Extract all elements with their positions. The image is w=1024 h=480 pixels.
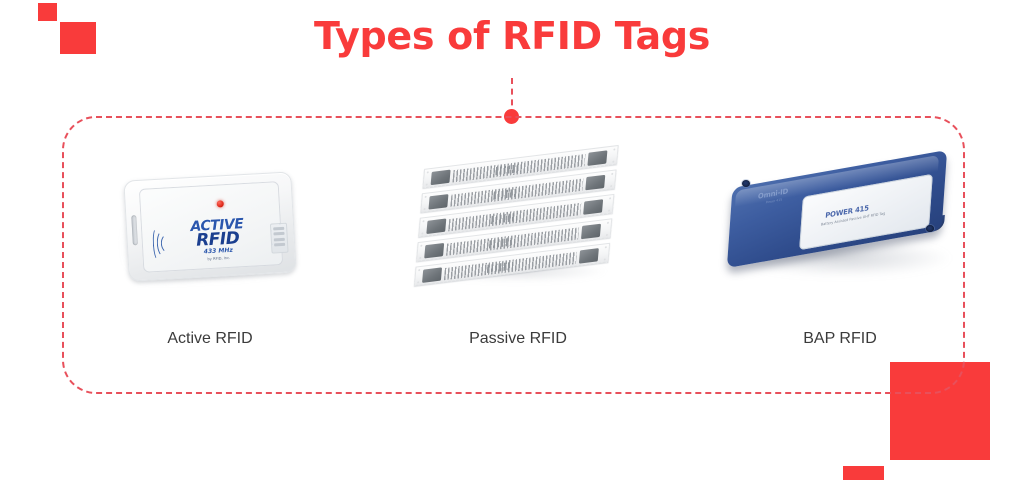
active-tag-vent-grill xyxy=(270,223,289,254)
tag-column-passive: Passive RFID xyxy=(368,150,668,370)
passive-rfid-image xyxy=(368,150,668,310)
tag-label-passive: Passive RFID xyxy=(368,330,668,348)
active-tag-face-panel: ACTIVE RFID 433 MHz by RFID, Inc. xyxy=(139,181,283,273)
inlay-chip-pad xyxy=(422,267,442,283)
tag-column-bap: Omni-ID Power 415 POWER 415 Battery Assi… xyxy=(690,150,990,370)
bap-rfid-image: Omni-ID Power 415 POWER 415 Battery Assi… xyxy=(690,150,990,310)
inlay-chip-pad xyxy=(426,218,446,234)
passive-inlay-sheet xyxy=(413,145,618,293)
tag-column-active: ACTIVE RFID 433 MHz by RFID, Inc. Acti xyxy=(60,150,360,370)
tag-label-active: Active RFID xyxy=(60,330,360,348)
bap-mounting-hole xyxy=(742,180,750,187)
inlay-chip-pad xyxy=(431,170,451,186)
tag-label-bap: BAP RFID xyxy=(690,330,990,348)
signal-wave-left-icon xyxy=(152,227,170,258)
active-logo-maker: by RFID, Inc. xyxy=(192,256,245,263)
bap-mounting-hole xyxy=(926,225,934,232)
page-title: Types of RFID Tags xyxy=(0,14,1024,58)
led-indicator-icon xyxy=(217,200,224,207)
inlay-chip-pad xyxy=(585,175,605,191)
inlay-chip-pad xyxy=(581,224,601,240)
active-tag-lanyard-slot xyxy=(131,215,138,245)
active-tag-body: ACTIVE RFID 433 MHz by RFID, Inc. xyxy=(123,171,296,281)
inlay-chip-pad xyxy=(424,243,444,259)
active-tag-logo: ACTIVE RFID 433 MHz by RFID, Inc. xyxy=(155,214,281,265)
active-rfid-image: ACTIVE RFID 433 MHz by RFID, Inc. xyxy=(60,150,360,310)
inlay-chip-pad xyxy=(583,199,603,215)
inlay-chip-pad xyxy=(579,248,599,264)
inlay-chip-pad xyxy=(428,194,448,210)
inlay-chip-pad xyxy=(587,150,607,166)
decorative-square-bottom-right-small xyxy=(843,466,884,480)
